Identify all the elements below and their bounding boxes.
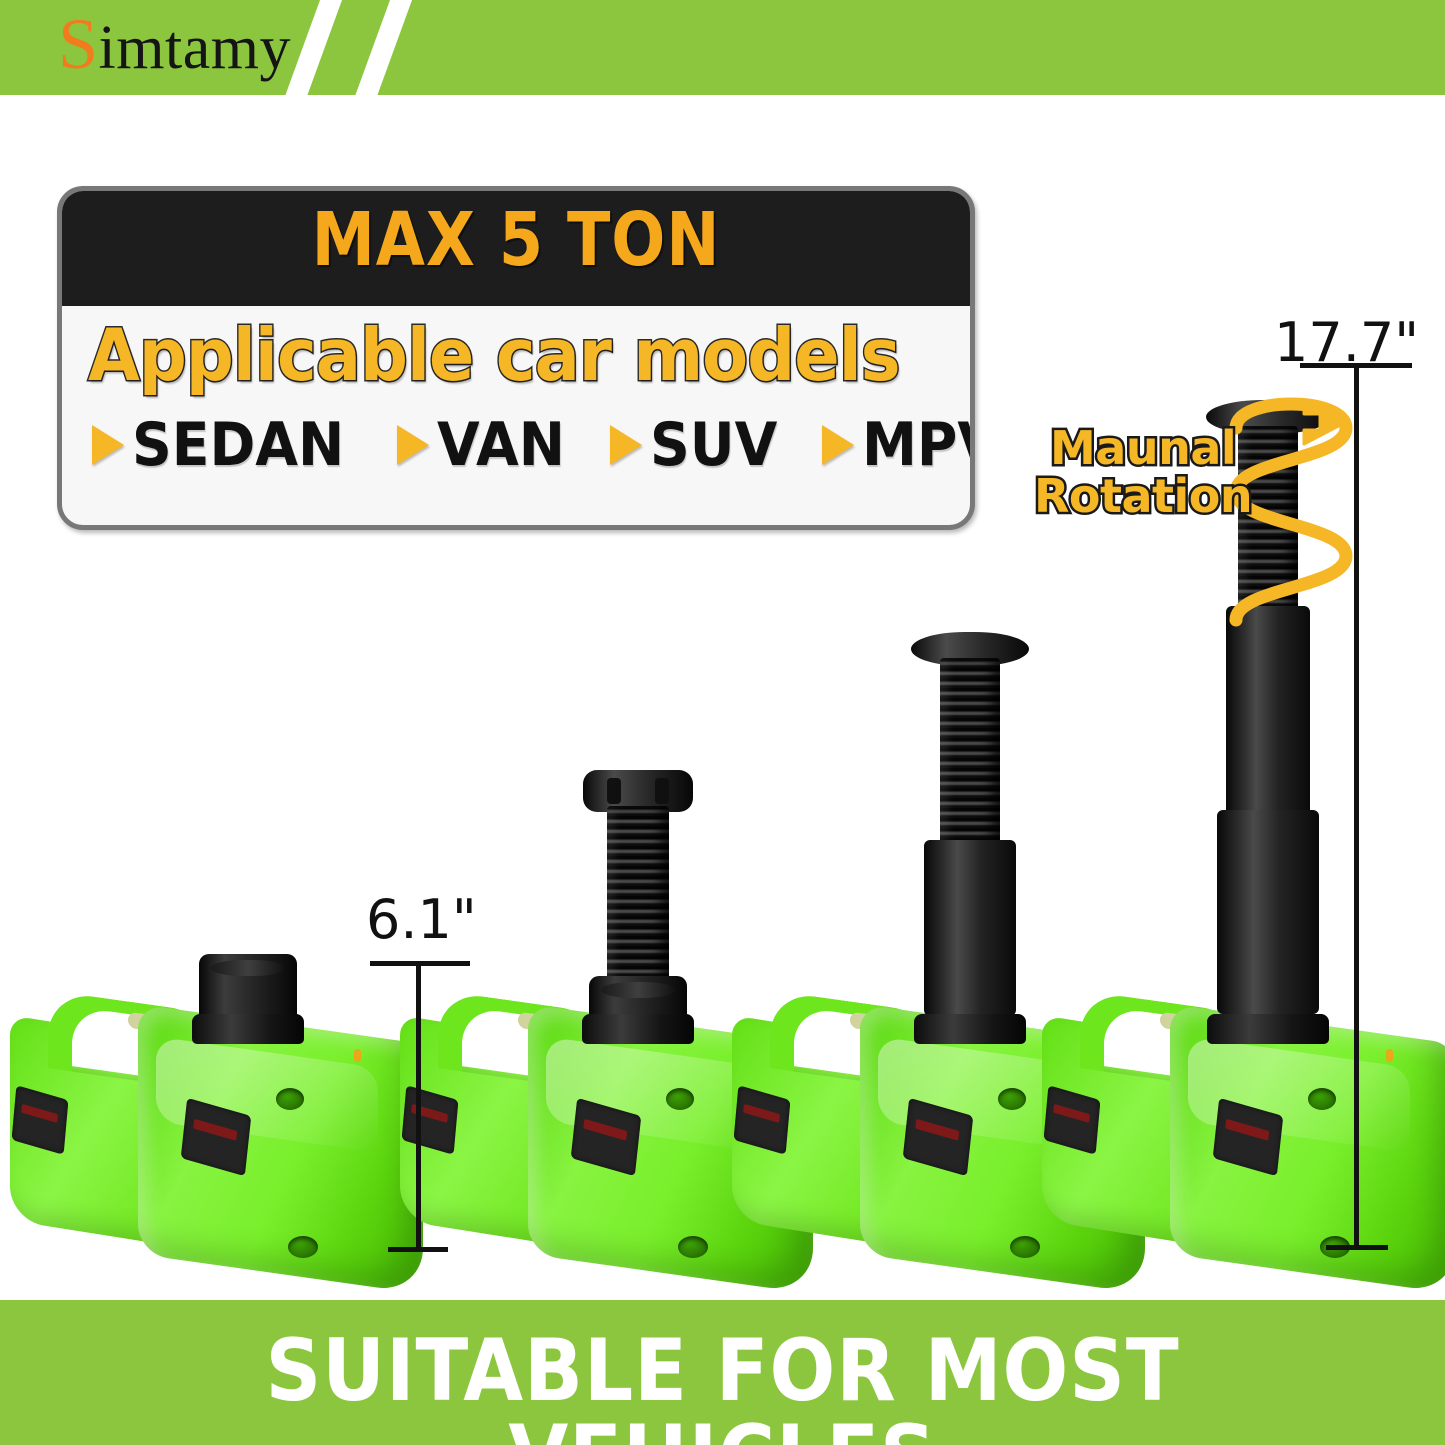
mounting-hole [288,1236,318,1258]
rotation-label-line1: Maunal [1050,421,1236,475]
car-model-item-sedan: SEDAN [92,415,363,475]
arrow-right-icon [92,425,124,465]
ram-base-collar [582,1014,694,1044]
arrow-right-icon [610,425,642,465]
applicable-models-subtitle: Applicable car models [88,319,900,391]
telescoping-tube-stage-1 [924,840,1016,1016]
telescoping-tube-stage-1 [1217,810,1319,1014]
rotation-label-line2: Rotation [1034,469,1252,523]
max-height-dimension-line [1354,363,1359,1249]
footer-banner: SUITABLE FOR MOST VEHICLES [0,1300,1445,1445]
threaded-screw-shaft [940,658,1000,844]
indicator-dot [354,1049,361,1062]
threaded-screw-shaft [607,806,669,988]
mounting-hole [276,1088,304,1110]
car-model-item-van: VAN [397,415,576,475]
ram-base-collar [1207,1014,1329,1044]
mounting-hole [1010,1236,1040,1258]
max-height-bottom-tick [1326,1245,1388,1250]
decorative-slash-icon [343,0,420,95]
car-model-label: MPV [862,415,975,475]
mounting-hole [998,1088,1026,1110]
car-model-label: SUV [650,415,777,475]
max-height-label: 17.7" [1274,316,1419,370]
arrow-right-icon [822,425,854,465]
indicator-dot [1386,1049,1393,1062]
footer-tagline: SUITABLE FOR MOST VEHICLES [72,1328,1373,1445]
brand-initial: S [58,4,99,84]
mounting-hole [678,1236,708,1258]
ram-base-collar [914,1014,1026,1044]
car-models-list: SEDAN VAN SUV MPV [92,415,972,475]
max-capacity-title: MAX 5 TON [126,203,907,277]
car-model-label: VAN [437,415,565,475]
jack-housing [1040,990,1445,1280]
min-height-dimension-line [416,961,421,1249]
housing-front-shell [1170,1004,1445,1294]
mounting-hole [1308,1088,1336,1110]
car-model-item-mpv: MPV [822,415,975,475]
mounting-hole [666,1088,694,1110]
spec-panel: MAX 5 TON Applicable car models SEDAN VA… [57,186,975,530]
min-height-bottom-tick [388,1247,448,1252]
arrow-right-icon [397,425,429,465]
jack-housing [8,990,428,1280]
car-model-item-suv: SUV [610,415,788,475]
car-model-label: SEDAN [132,415,344,475]
brand-name-rest: imtamy [99,14,291,82]
ram-base-collar [192,1014,304,1044]
brand-logo: Simtamy [58,8,291,80]
product-infographic: Simtamy MAX 5 TON Applicable car models … [0,0,1445,1445]
header-banner: Simtamy [0,0,1445,95]
telescoping-tube-stage-2 [1226,606,1310,816]
min-height-label: 6.1" [366,893,477,947]
manual-rotation-callout: MaunalRotation [1034,424,1252,521]
